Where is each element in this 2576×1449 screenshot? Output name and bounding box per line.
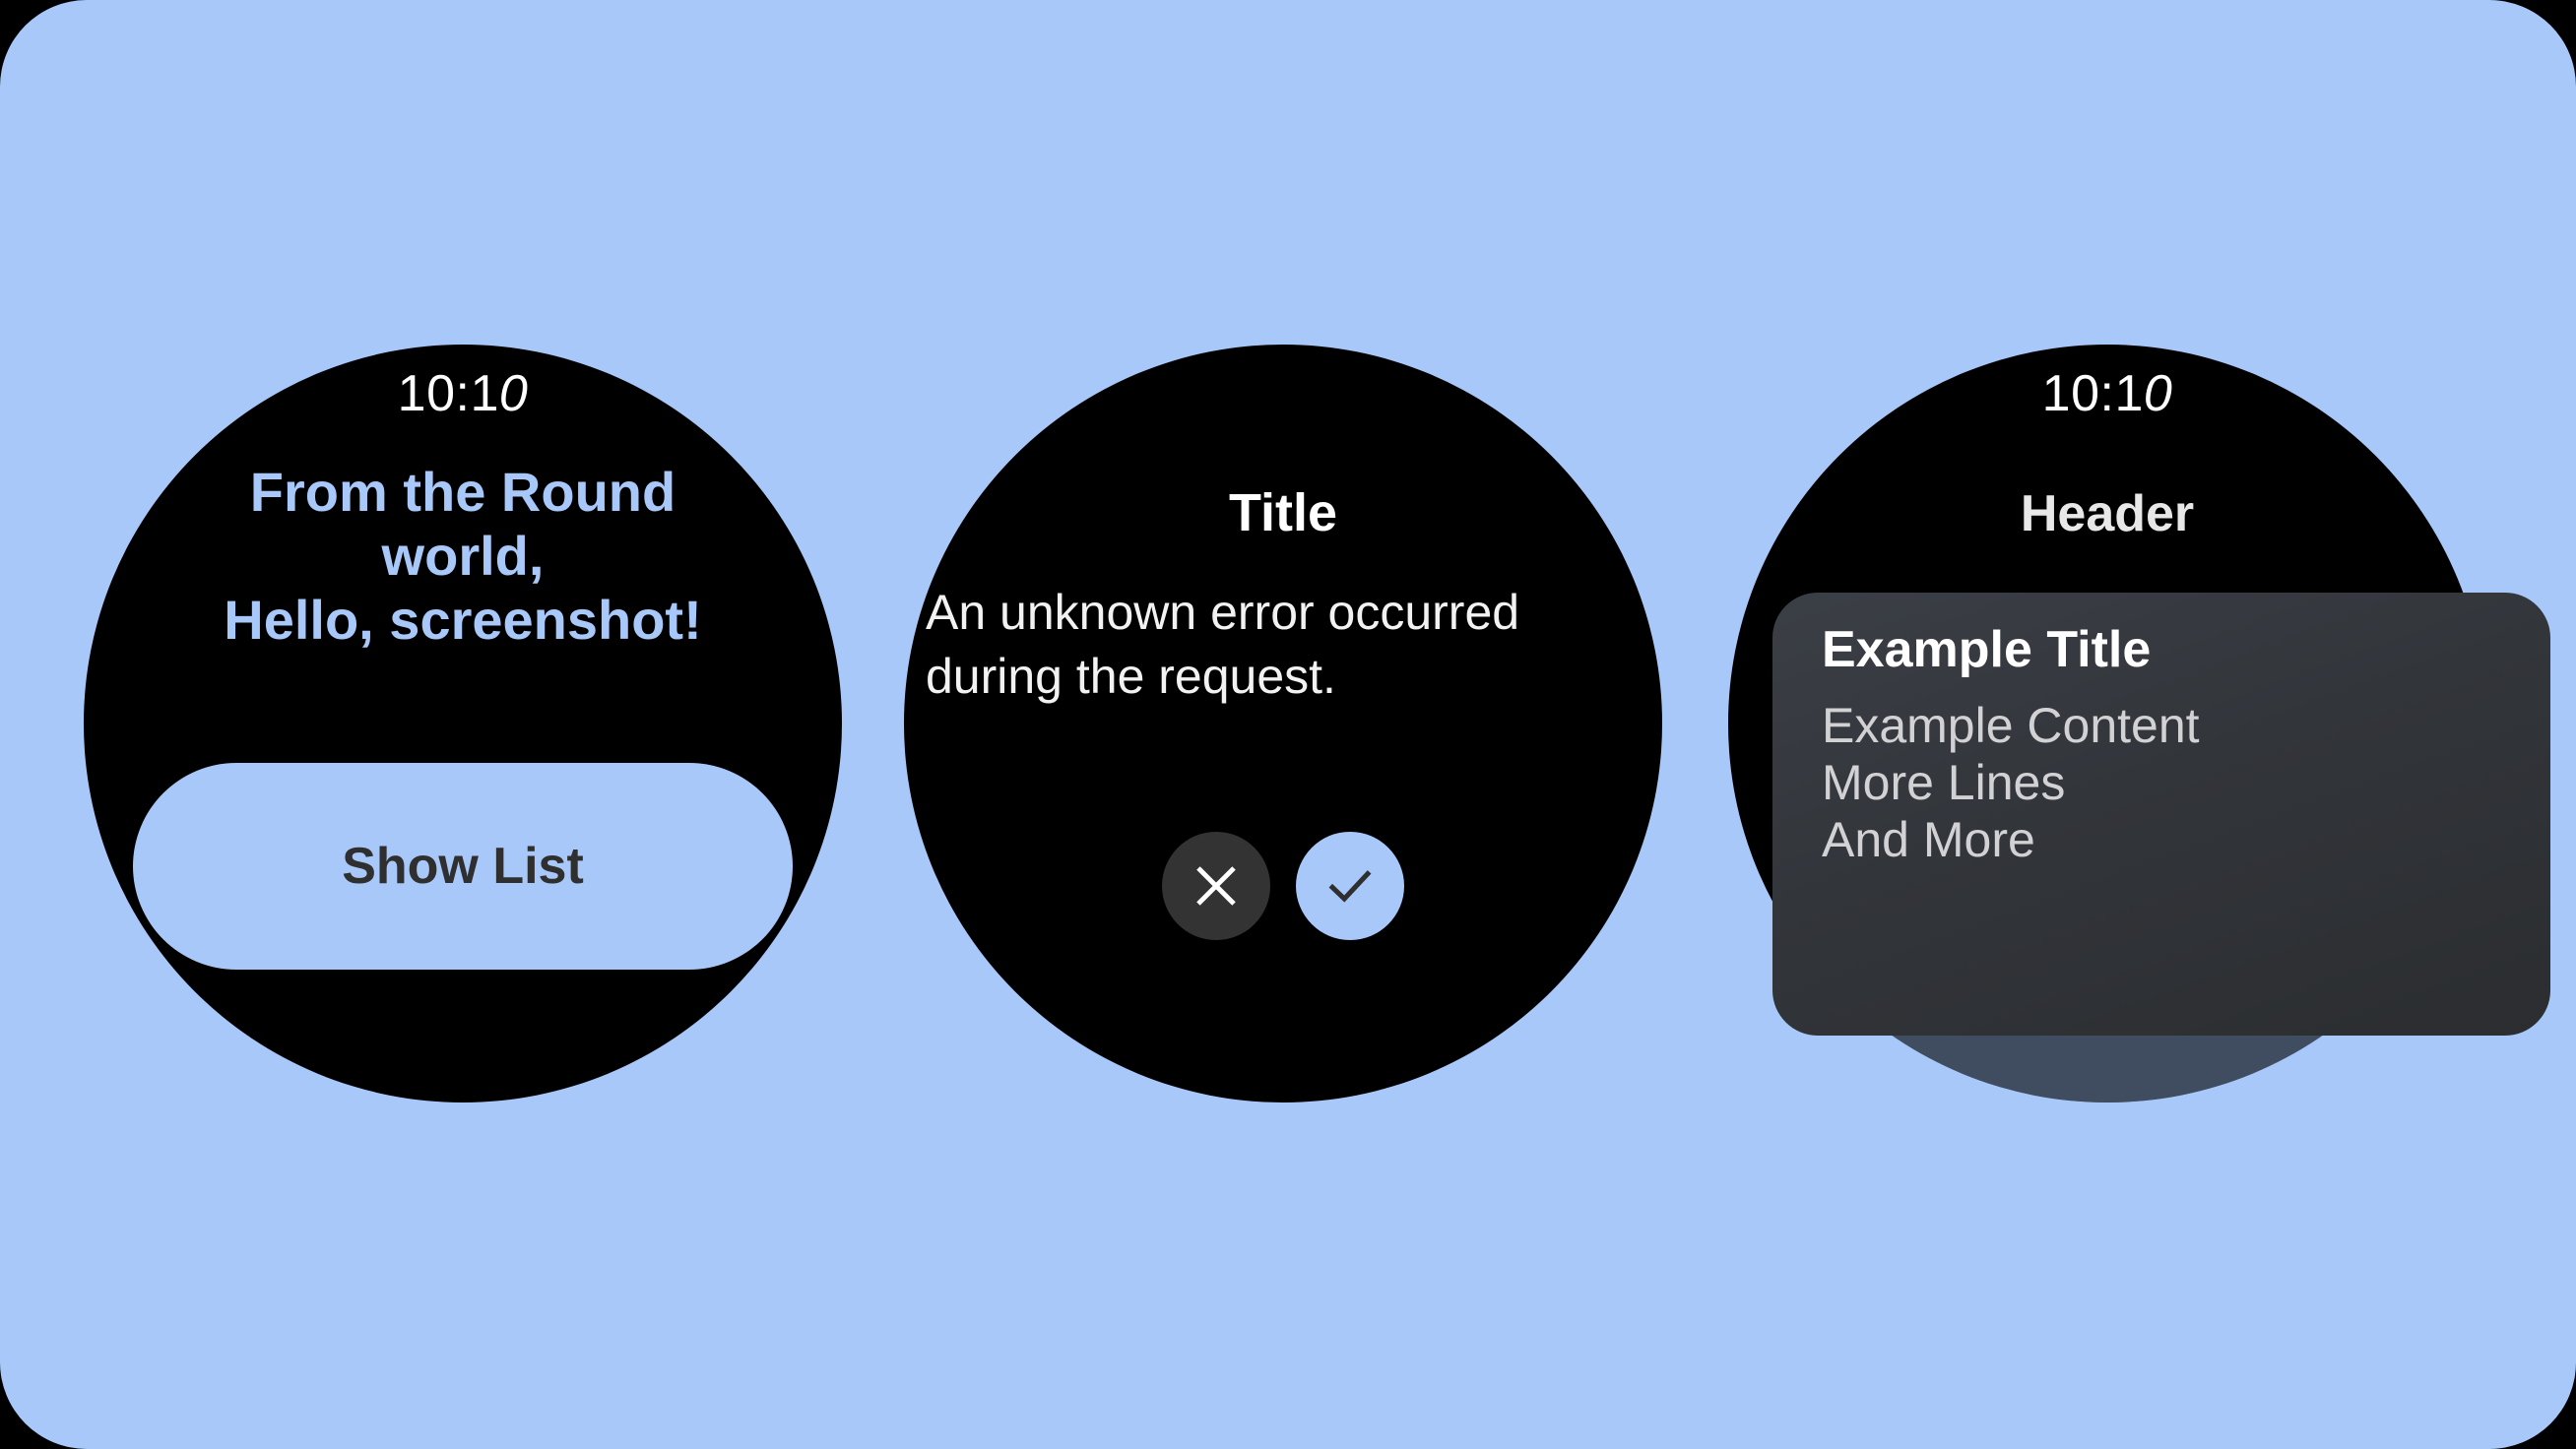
status-time-trailing-digit: 0	[499, 365, 528, 422]
scroll-overscroll-indicator	[1728, 1034, 2486, 1102]
status-time: 10:10	[84, 364, 842, 423]
show-list-button[interactable]: Show List	[133, 763, 793, 970]
list-card[interactable]: Example Title Example Content More Lines…	[1772, 593, 2550, 1036]
watch-round-list: 10:10 Header Example Title Example Conte…	[1728, 345, 2486, 1102]
close-icon	[1189, 858, 1244, 913]
alert-message: An unknown error occurred during the req…	[926, 581, 1641, 709]
greeting-line-2: world,	[138, 525, 788, 589]
card-line-2: More Lines	[1822, 754, 2550, 811]
show-list-button-label: Show List	[342, 837, 584, 896]
watch-round-greeting: 10:10 From the Round world, Hello, scree…	[84, 345, 842, 1102]
watch-1-screen: 10:10 From the Round world, Hello, scree…	[84, 345, 842, 1102]
dismiss-button[interactable]	[1162, 832, 1270, 940]
list-header: Header	[1728, 484, 2486, 543]
greeting-line-1: From the Round	[138, 461, 788, 525]
status-time: 10:10	[1728, 364, 2486, 423]
watch-2-screen: Title An unknown error occurred during t…	[904, 345, 1662, 1102]
card-title: Example Title	[1822, 624, 2550, 675]
card-line-1: Example Content	[1822, 697, 2550, 754]
check-icon	[1321, 857, 1379, 914]
status-time-value: 10:1	[398, 365, 499, 422]
status-time-trailing-digit: 0	[2144, 365, 2172, 422]
greeting-text: From the Round world, Hello, screenshot!	[138, 461, 788, 653]
card-line-3: And More	[1822, 811, 2550, 868]
greeting-line-3: Hello, screenshot!	[138, 589, 788, 653]
confirm-button[interactable]	[1296, 832, 1404, 940]
screenshot-canvas: 10:10 From the Round world, Hello, scree…	[0, 0, 2576, 1449]
watch-round-alert: Title An unknown error occurred during t…	[904, 345, 1662, 1102]
alert-message-line-1: An unknown error occurred	[926, 581, 1641, 645]
alert-actions	[904, 832, 1662, 940]
alert-message-line-2: during the request.	[926, 645, 1641, 709]
alert-title: Title	[904, 482, 1662, 543]
status-time-value: 10:1	[2042, 365, 2144, 422]
